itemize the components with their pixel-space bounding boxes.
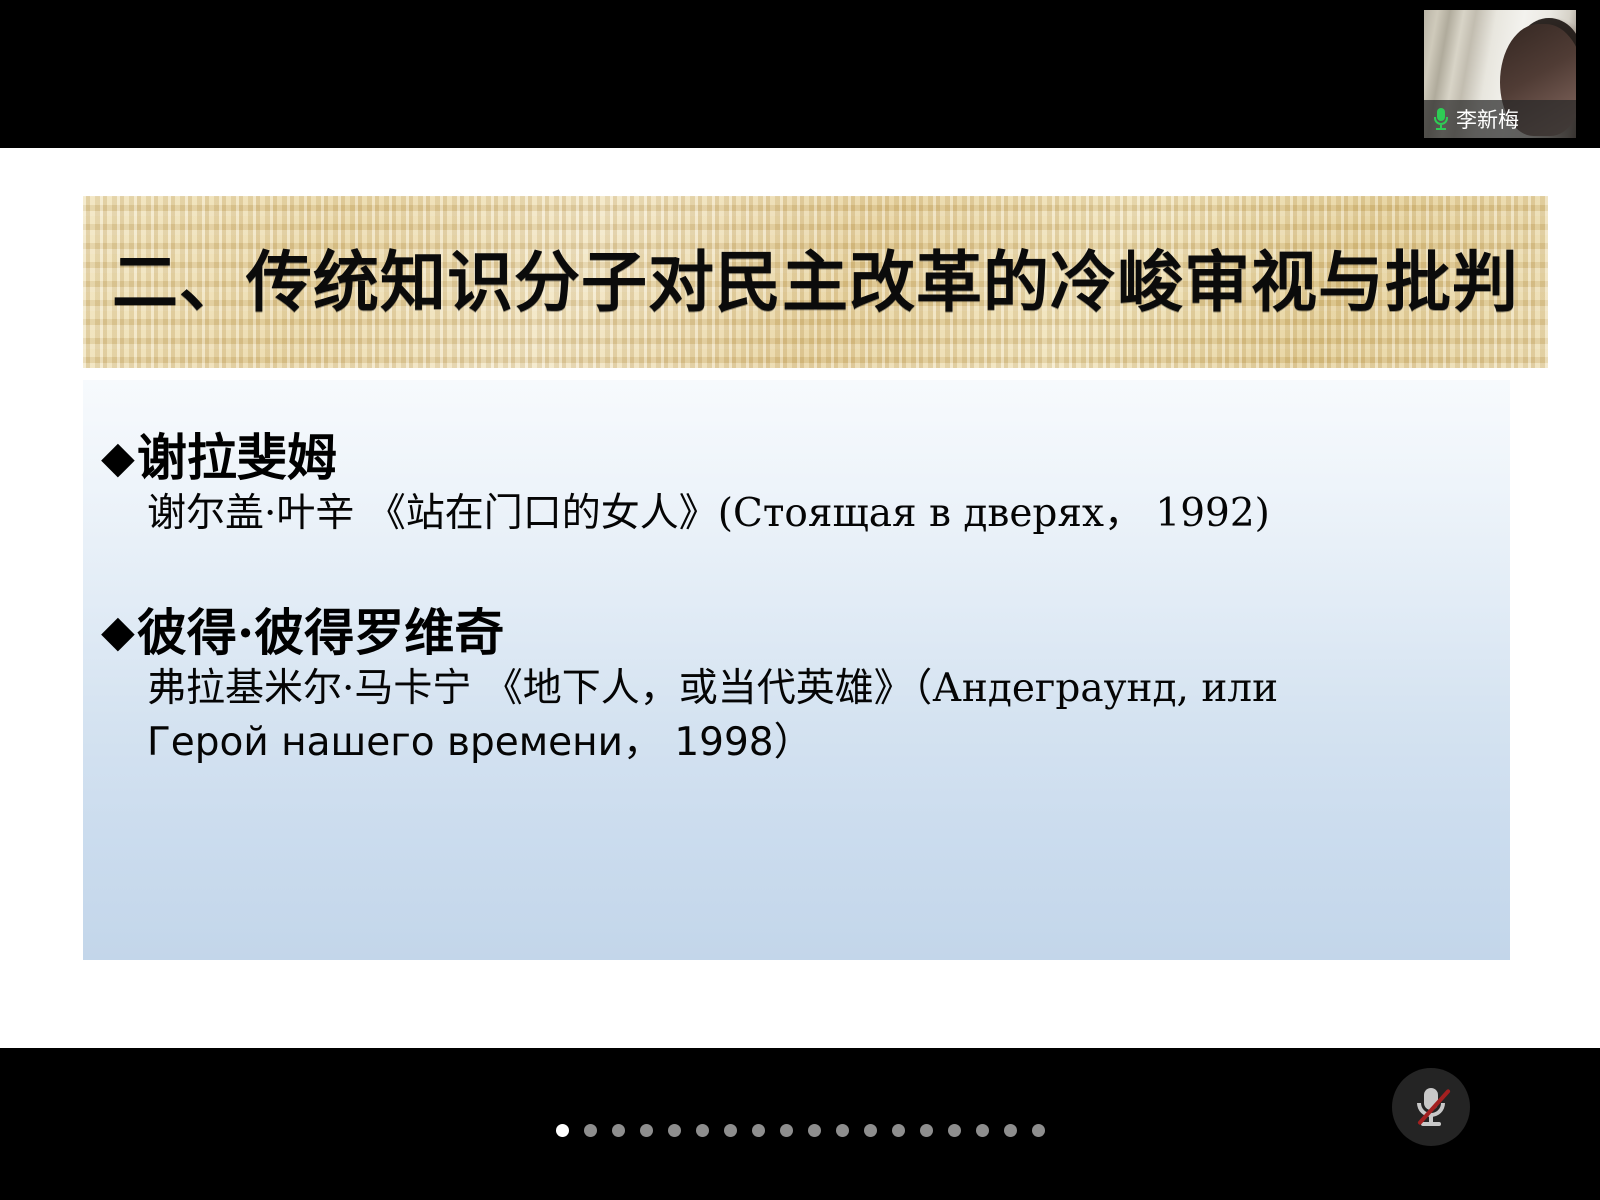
presenter-name-strip: 李新梅 bbox=[1424, 100, 1576, 138]
bullet-heading-1: ◆ 谢拉斐姆 bbox=[101, 428, 1480, 487]
slide-body-panel: ◆ 谢拉斐姆 谢尔盖·叶辛 《站在门口的女人》(Стоящая в дверях… bbox=[83, 380, 1510, 960]
bottom-control-bar bbox=[0, 1048, 1600, 1200]
pagination-dot[interactable] bbox=[920, 1124, 933, 1137]
microphone-muted-icon bbox=[1414, 1086, 1448, 1128]
pagination-dot[interactable] bbox=[780, 1124, 793, 1137]
bullet-group-2: ◆ 彼得·彼得罗维奇 弗拉基米尔·马卡宁 《地下人，或当代英雄》（Андегра… bbox=[101, 603, 1480, 770]
microphone-on-icon bbox=[1432, 107, 1450, 131]
pagination-dot[interactable] bbox=[584, 1124, 597, 1137]
pagination-dot[interactable] bbox=[724, 1124, 737, 1137]
slide-pagination-dots[interactable] bbox=[0, 1124, 1600, 1137]
pagination-dot[interactable] bbox=[836, 1124, 849, 1137]
pagination-dot[interactable] bbox=[696, 1124, 709, 1137]
pagination-dot[interactable] bbox=[1004, 1124, 1017, 1137]
diamond-bullet-icon: ◆ bbox=[101, 610, 135, 654]
pagination-dot[interactable] bbox=[976, 1124, 989, 1137]
bullet-detail-2-line-2: Герой нашего времени， 1998） bbox=[101, 716, 1480, 770]
slide-title-text: 二、传统知识分子对民主改革的冷峻审视与批判 bbox=[112, 249, 1519, 315]
bullet-heading-2: ◆ 彼得·彼得罗维奇 bbox=[101, 603, 1480, 662]
pagination-dot[interactable] bbox=[612, 1124, 625, 1137]
pagination-dot[interactable] bbox=[640, 1124, 653, 1137]
pagination-dot[interactable] bbox=[1032, 1124, 1045, 1137]
bullet-spacer bbox=[101, 551, 1480, 603]
screen-share-view: 李新梅 二、传统知识分子对民主改革的冷峻审视与批判 ◆ 谢拉斐姆 谢尔盖·叶辛 … bbox=[0, 0, 1600, 1200]
bullet-detail-2-line-1: 弗拉基米尔·马卡宁 《地下人，或当代英雄》（Андеграунд, или bbox=[101, 662, 1480, 716]
pagination-dot[interactable] bbox=[752, 1124, 765, 1137]
bullet-heading-text-2: 彼得·彼得罗维奇 bbox=[137, 603, 504, 662]
pagination-dot[interactable] bbox=[948, 1124, 961, 1137]
pagination-dot-active[interactable] bbox=[556, 1124, 569, 1137]
bullet-group-1: ◆ 谢拉斐姆 谢尔盖·叶辛 《站在门口的女人》(Стоящая в дверях… bbox=[101, 428, 1480, 541]
pagination-dot[interactable] bbox=[864, 1124, 877, 1137]
bullet-heading-text-1: 谢拉斐姆 bbox=[137, 428, 337, 487]
diamond-bullet-icon: ◆ bbox=[101, 436, 135, 480]
presenter-name: 李新梅 bbox=[1456, 104, 1519, 134]
slide-canvas: 二、传统知识分子对民主改革的冷峻审视与批判 ◆ 谢拉斐姆 谢尔盖·叶辛 《站在门… bbox=[0, 148, 1600, 1048]
pagination-dot[interactable] bbox=[892, 1124, 905, 1137]
pagination-dot[interactable] bbox=[668, 1124, 681, 1137]
bullet-detail-1-line-1: 谢尔盖·叶辛 《站在门口的女人》(Стоящая в дверях， 1992) bbox=[101, 487, 1480, 541]
pagination-dot[interactable] bbox=[808, 1124, 821, 1137]
slide-title-band: 二、传统知识分子对民主改革的冷峻审视与批判 bbox=[83, 196, 1548, 368]
presenter-video-tile[interactable]: 李新梅 bbox=[1424, 10, 1576, 138]
